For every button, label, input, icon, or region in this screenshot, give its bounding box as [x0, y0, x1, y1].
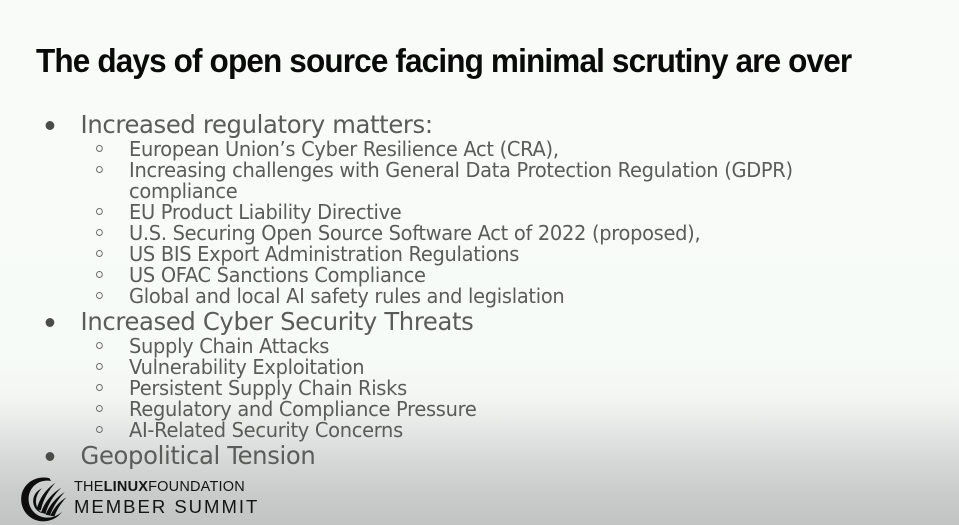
- bullet-circle-icon: [96, 363, 103, 370]
- bullet-circle-icon: [96, 405, 103, 412]
- list-item-label: AI-Related Security Concerns: [129, 418, 403, 442]
- linux-foundation-swirl-icon: [19, 476, 67, 522]
- list-item-label-continuation: compliance: [129, 181, 930, 202]
- logo-line-member-summit: MEMBER SUMMIT: [74, 496, 269, 517]
- bullet-circle-icon: [96, 250, 103, 257]
- bullet-list: Increased regulatory matters:European Un…: [0, 110, 959, 470]
- bullet-circle-icon: [96, 166, 103, 173]
- list-item: Increased Cyber Security Threats: [0, 307, 930, 336]
- bullet-circle-icon: [96, 145, 103, 152]
- list-item: U.S. Securing Open Source Software Act o…: [0, 223, 930, 244]
- presentation-slide: The days of open source facing minimal s…: [0, 0, 959, 525]
- list-item: Geopolitical Tension: [0, 441, 930, 470]
- bullet-circle-icon: [96, 342, 103, 349]
- logo-wordmark: THELINUXFOUNDATION MEMBER SUMMIT: [74, 479, 269, 517]
- logo-line-foundation: THELINUXFOUNDATION: [74, 479, 269, 496]
- bullet-circle-icon: [96, 292, 103, 299]
- list-item-label: Global and local AI safety rules and leg…: [129, 284, 564, 308]
- bullet-circle-icon: [96, 384, 103, 391]
- bullet-disc-icon: [46, 318, 55, 327]
- list-item: Increasing challenges with General Data …: [0, 160, 930, 202]
- list-item-label: Increased Cyber Security Threats: [81, 307, 474, 336]
- list-item: US BIS Export Administration Regulations: [0, 244, 930, 265]
- list-item: Persistent Supply Chain Risks: [0, 378, 930, 399]
- list-item: Global and local AI safety rules and leg…: [0, 286, 930, 307]
- list-item: AI-Related Security Concerns: [0, 420, 930, 441]
- bullet-circle-icon: [96, 271, 103, 278]
- logo-the: THE: [74, 479, 104, 495]
- linux-foundation-member-summit-logo: THELINUXFOUNDATION MEMBER SUMMIT: [19, 476, 269, 522]
- page-title: The days of open source facing minimal s…: [36, 41, 896, 81]
- list-item: Vulnerability Exploitation: [0, 357, 930, 378]
- bullet-circle-icon: [96, 208, 103, 215]
- bullet-disc-icon: [46, 121, 55, 130]
- bullet-circle-icon: [96, 229, 103, 236]
- logo-linux: LINUX: [104, 479, 149, 495]
- bullet-disc-icon: [46, 452, 55, 461]
- list-item: European Union’s Cyber Resilience Act (C…: [0, 139, 930, 160]
- logo-foundation: FOUNDATION: [148, 479, 245, 495]
- list-item: EU Product Liability Directive: [0, 202, 930, 223]
- list-item: US OFAC Sanctions Compliance: [0, 265, 930, 286]
- list-item-label: Geopolitical Tension: [81, 441, 316, 470]
- list-item: Regulatory and Compliance Pressure: [0, 399, 930, 420]
- list-item: Increased regulatory matters:: [0, 110, 930, 139]
- list-item-label: Increased regulatory matters:: [81, 110, 433, 139]
- list-item: Supply Chain Attacks: [0, 336, 930, 357]
- bullet-circle-icon: [96, 426, 103, 433]
